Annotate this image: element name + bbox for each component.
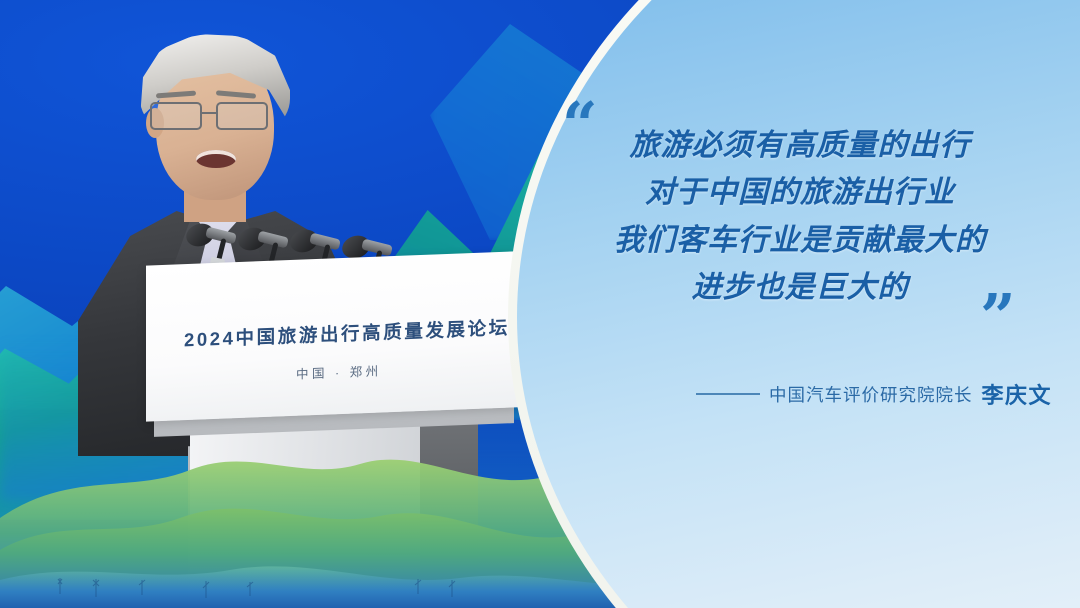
- attribution-name: 李庆文: [981, 378, 1052, 410]
- attribution: 中国汽车评价研究院院长 李庆文: [540, 378, 1052, 410]
- quote-content: “ 旅游必须有高质量的出行 对于中国的旅游出行业 我们客车行业是贡献最大的 进步…: [540, 0, 1080, 608]
- quote-line: 旅游必须有高质量的出行: [540, 122, 1060, 169]
- quote-card-root: 2024中国旅游出行高质量发展论坛 中国 · 郑州: [0, 0, 1080, 608]
- attribution-rule: [696, 393, 760, 395]
- quote-line: 对于中国的旅游出行业: [540, 169, 1060, 216]
- quote-line: 我们客车行业是贡献最大的: [540, 217, 1060, 264]
- attribution-role: 中国汽车评价研究院院长: [769, 382, 973, 407]
- quote-close-mark: ”: [980, 286, 1013, 348]
